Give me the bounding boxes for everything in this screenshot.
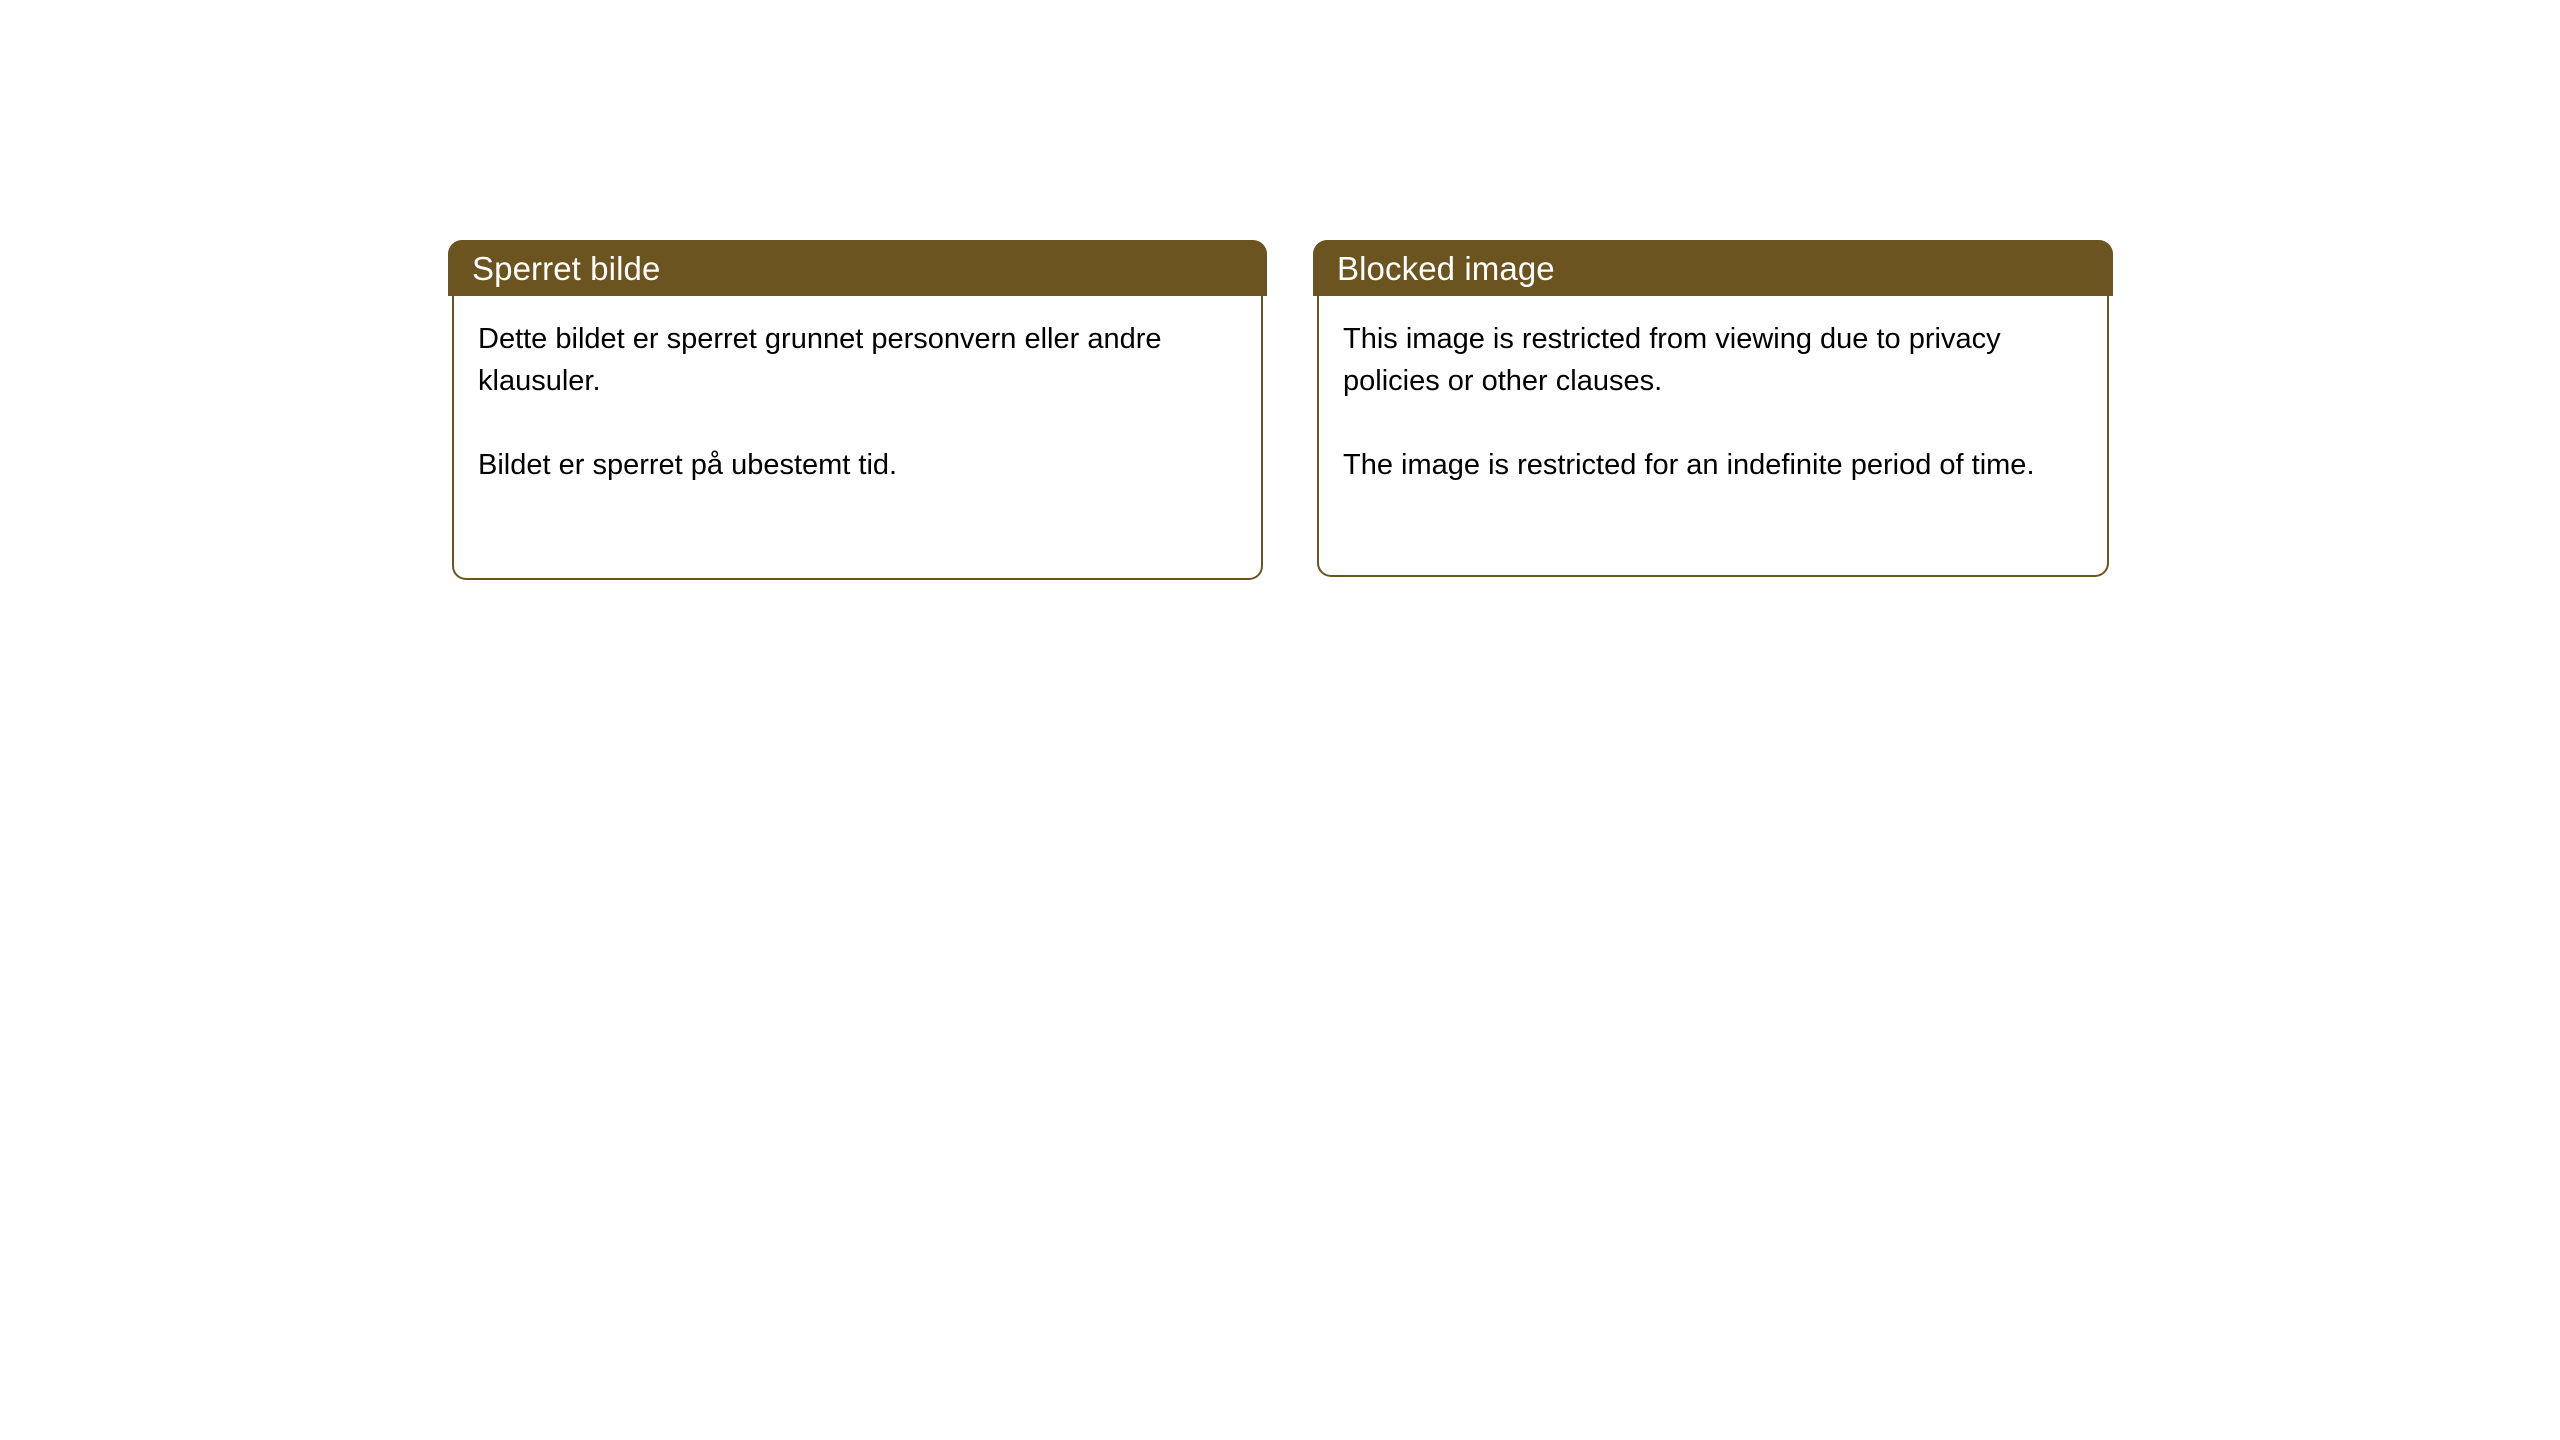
blocked-image-notice-container: Sperret bilde Dette bildet er sperret gr… [0, 0, 2560, 1440]
panel-header-bar: Blocked image [1313, 240, 2113, 296]
panel-body: This image is restricted from viewing du… [1317, 296, 2109, 577]
blocked-image-panel-english: Blocked image This image is restricted f… [1313, 240, 2113, 577]
panel-title: Sperret bilde [472, 252, 660, 285]
panel-paragraph-secondary: The image is restricted for an indefinit… [1343, 444, 2087, 486]
panel-header-bar: Sperret bilde [448, 240, 1267, 296]
panel-paragraph-primary: This image is restricted from viewing du… [1343, 318, 2087, 402]
blocked-image-panel-norwegian: Sperret bilde Dette bildet er sperret gr… [448, 240, 1267, 580]
panel-paragraph-primary: Dette bildet er sperret grunnet personve… [478, 318, 1241, 402]
panel-paragraph-secondary: Bildet er sperret på ubestemt tid. [478, 444, 1241, 486]
panel-body: Dette bildet er sperret grunnet personve… [452, 296, 1263, 580]
panel-title: Blocked image [1337, 252, 1555, 285]
